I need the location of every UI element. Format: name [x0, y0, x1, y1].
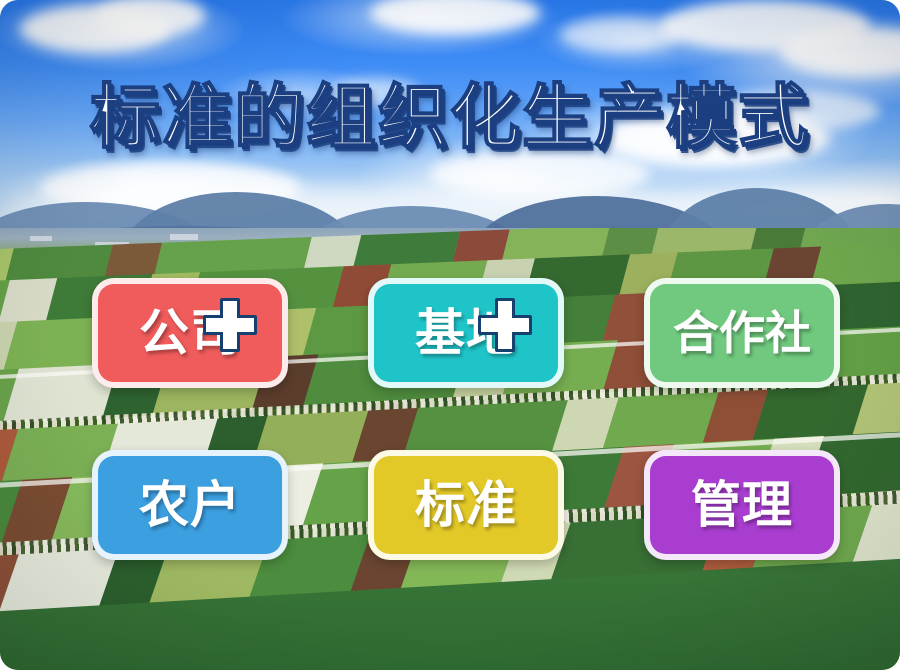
box-cooperative[interactable]: 合作社	[644, 278, 840, 388]
box-base[interactable]: 基地	[368, 278, 564, 388]
page-title: 标准的组织化生产模式	[90, 82, 810, 152]
plus-icon	[478, 298, 532, 352]
poster-canvas: 标准的组织化生产模式 公司 基地 合作社 农户 标准 管理	[0, 0, 900, 670]
box-management[interactable]: 管理	[644, 450, 840, 560]
box-company[interactable]: 公司	[92, 278, 288, 388]
box-farmer[interactable]: 农户	[92, 450, 288, 560]
box-management-label: 管理	[691, 480, 793, 530]
box-standard[interactable]: 标准	[368, 450, 564, 560]
box-farmer-label: 农户	[139, 480, 241, 530]
box-cooperative-label: 合作社	[673, 310, 811, 356]
title-container: 标准的组织化生产模式	[0, 82, 900, 152]
plus-icon	[203, 298, 257, 352]
box-standard-label: 标准	[415, 480, 517, 530]
